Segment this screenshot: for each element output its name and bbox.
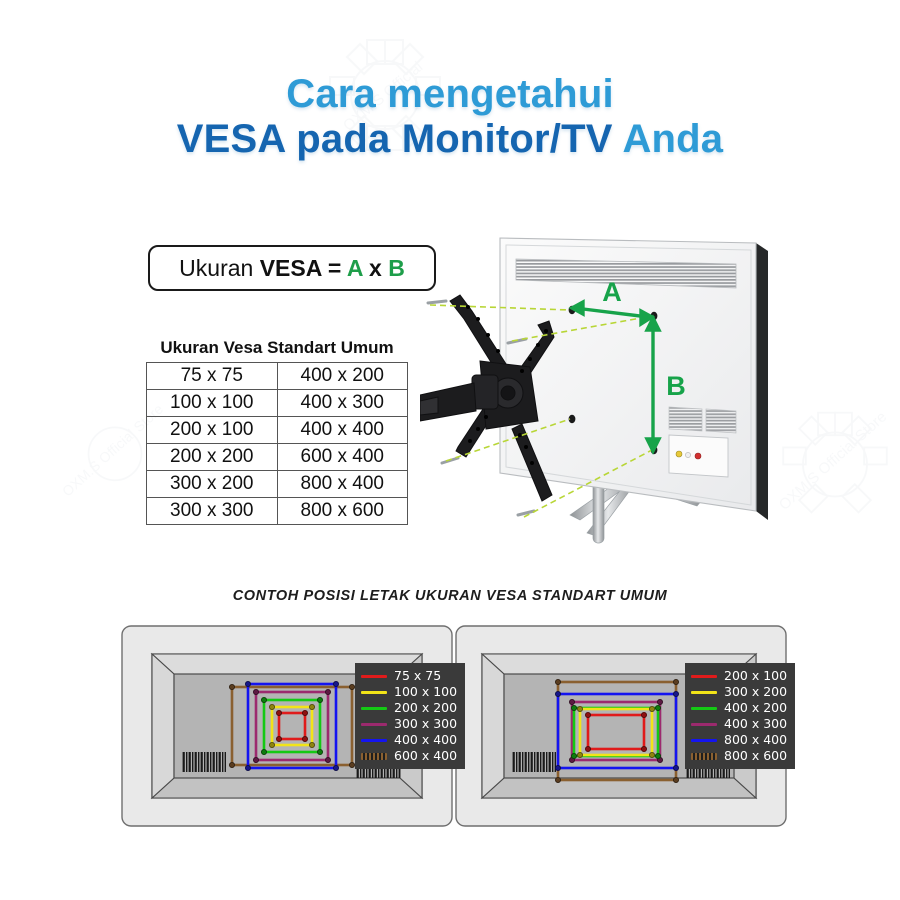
legend-item: 400 x 200: [691, 700, 787, 716]
table-cell-left: 200 x 100: [147, 417, 278, 444]
legend-item: 400 x 300: [691, 716, 787, 732]
table-cell-left: 75 x 75: [147, 363, 278, 390]
formula-vesa: VESA: [260, 255, 322, 281]
legend-label: 300 x 200: [724, 684, 787, 700]
legend-label: 200 x 200: [394, 700, 457, 716]
legend-swatch: [361, 707, 387, 710]
legend-item: 800 x 400: [691, 732, 787, 748]
formula-prefix: Ukuran: [179, 255, 260, 281]
legend-label: 800 x 600: [724, 748, 787, 764]
table-cell-right: 400 x 300: [277, 390, 408, 417]
legend-swatch: [691, 753, 717, 760]
table-cell-left: 100 x 100: [147, 390, 278, 417]
legend-item: 100 x 100: [361, 684, 457, 700]
table-row: 100 x 100 400 x 300: [147, 390, 408, 417]
table-row: 300 x 200 800 x 400: [147, 471, 408, 498]
title-line-2: VESA pada Monitor/TV Anda: [0, 117, 900, 162]
legend-label: 800 x 400: [724, 732, 787, 748]
legend-item: 800 x 600: [691, 748, 787, 764]
legend-item: 300 x 200: [691, 684, 787, 700]
table-cell-left: 200 x 200: [147, 444, 278, 471]
table-cell-right: 800 x 600: [277, 498, 408, 525]
legend-label: 200 x 100: [724, 668, 787, 684]
formula-box: Ukuran VESA = A x B: [148, 245, 436, 291]
legend-item: 200 x 200: [361, 700, 457, 716]
formula-times: x: [363, 255, 389, 281]
formula-equals: =: [322, 255, 347, 281]
legend-label: 400 x 200: [724, 700, 787, 716]
legend-item: 200 x 100: [691, 668, 787, 684]
legend-swatch: [361, 739, 387, 742]
legend-label: 400 x 400: [394, 732, 457, 748]
label-a: A: [602, 277, 622, 307]
page-title: Cara mengetahui VESA pada Monitor/TV And…: [0, 72, 900, 162]
legend-swatch: [361, 723, 387, 726]
legend-label: 75 x 75: [394, 668, 441, 684]
infographic-page: OXM.S Official OXM.S Official Store OXM.…: [0, 0, 900, 900]
title-line-2-main: VESA pada Monitor/TV: [177, 117, 613, 161]
legend-item: 600 x 400: [361, 748, 457, 764]
title-line-2-tail: Anda: [613, 117, 724, 161]
table-cell-left: 300 x 300: [147, 498, 278, 525]
legend-label: 100 x 100: [394, 684, 457, 700]
legend-left: 75 x 75 100 x 100 200 x 200 300 x 300 40…: [355, 663, 465, 769]
bottom-caption: CONTOH POSISI LETAK UKURAN VESA STANDART…: [0, 588, 900, 604]
legend-swatch: [691, 707, 717, 710]
vesa-size-table: 75 x 75 400 x 200 100 x 100 400 x 300 20…: [146, 362, 408, 525]
legend-label: 400 x 300: [724, 716, 787, 732]
legend-swatch: [361, 753, 387, 760]
legend-swatch: [691, 723, 717, 726]
legend-swatch: [361, 675, 387, 678]
table-row: 200 x 200 600 x 400: [147, 444, 408, 471]
table-row: 200 x 100 400 x 400: [147, 417, 408, 444]
table-row: 300 x 300 800 x 600: [147, 498, 408, 525]
table-heading: Ukuran Vesa Standart Umum: [146, 338, 408, 358]
formula-a: A: [347, 255, 363, 281]
label-b: B: [666, 371, 686, 401]
legend-item: 75 x 75: [361, 668, 457, 684]
table-cell-right: 400 x 200: [277, 363, 408, 390]
legend-item: 300 x 300: [361, 716, 457, 732]
title-line-1: Cara mengetahui: [0, 72, 900, 117]
legend-label: 600 x 400: [394, 748, 457, 764]
table-cell-right: 400 x 400: [277, 417, 408, 444]
legend-right: 200 x 100 300 x 200 400 x 200 400 x 300 …: [685, 663, 795, 769]
legend-swatch: [361, 691, 387, 694]
table-cell-right: 600 x 400: [277, 444, 408, 471]
legend-swatch: [691, 739, 717, 742]
table-cell-left: 300 x 200: [147, 471, 278, 498]
table-cell-right: 800 x 400: [277, 471, 408, 498]
legend-swatch: [691, 691, 717, 694]
table-row: 75 x 75 400 x 200: [147, 363, 408, 390]
legend-item: 400 x 400: [361, 732, 457, 748]
formula-b: B: [388, 255, 405, 281]
legend-swatch: [691, 675, 717, 678]
formula-text: Ukuran VESA = A x B: [179, 255, 405, 282]
legend-label: 300 x 300: [394, 716, 457, 732]
tv-mount-illustration: A B: [420, 215, 820, 555]
